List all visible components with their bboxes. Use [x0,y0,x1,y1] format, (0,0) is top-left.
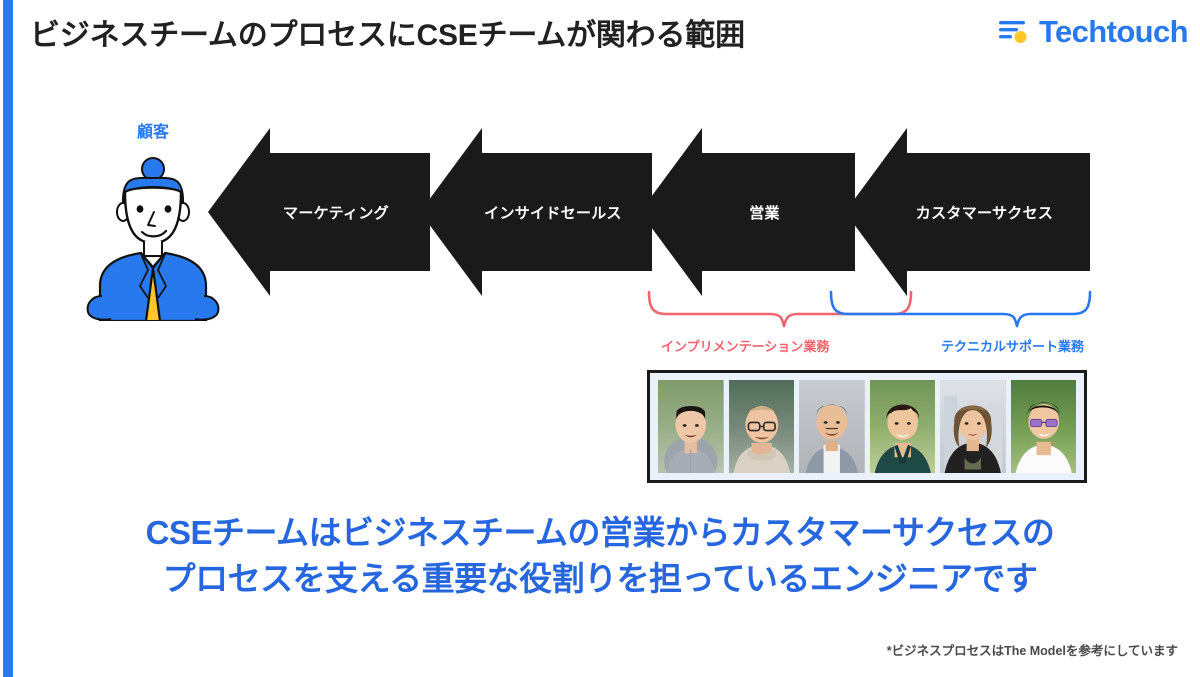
summary-line-2: プロセスを支える重要な役割りを担っているエンジニアです [0,556,1200,602]
team-member-photo-5 [940,380,1006,473]
customer-label: 顧客 [78,118,228,142]
techtouch-lines-dot-mark-icon [997,14,1031,48]
process-arrow-inside-sales[interactable]: インサイドセールス [420,128,652,296]
process-arrow-sales[interactable]: 営業 [640,128,855,296]
slide-root: ビジネスチームのプロセスにCSEチームが関わる範囲 Techtouch 顧客 [0,0,1200,677]
bracket-implementation [649,292,911,326]
page-title: ビジネスチームのプロセスにCSEチームが関わる範囲 [30,10,745,54]
bracket-label-technical-support: テクニカルサポート業務 [941,336,1084,355]
summary-line-1: CSEチームはビジネスチームの営業からカスタマーサクセスの [0,510,1200,556]
team-member-photo-2 [729,380,795,473]
techtouch-logo: Techtouch [997,14,1188,48]
team-member-photo-1 [658,380,724,473]
team-member-photo-6 [1011,380,1077,473]
customer-person-icon [78,146,228,321]
bracket-label-implementation: インプリメンテーション業務 [661,336,829,355]
summary-text: CSEチームはビジネスチームの営業からカスタマーサクセスの プロセスを支える重要… [0,510,1200,601]
team-photo-frame [647,370,1087,483]
customer-illustration-block: 顧客 [78,118,228,321]
footnote: *ビジネスプロセスはThe Modelを参考にしています [887,640,1178,659]
logo-wordmark: Techtouch [1039,16,1188,47]
team-member-photo-3 [799,380,865,473]
process-arrow-customer-success[interactable]: カスタマーサクセス [845,128,1090,296]
process-arrow-marketing[interactable]: マーケティング [208,128,430,296]
team-member-photo-4 [870,380,936,473]
bracket-technical-support [831,292,1090,326]
